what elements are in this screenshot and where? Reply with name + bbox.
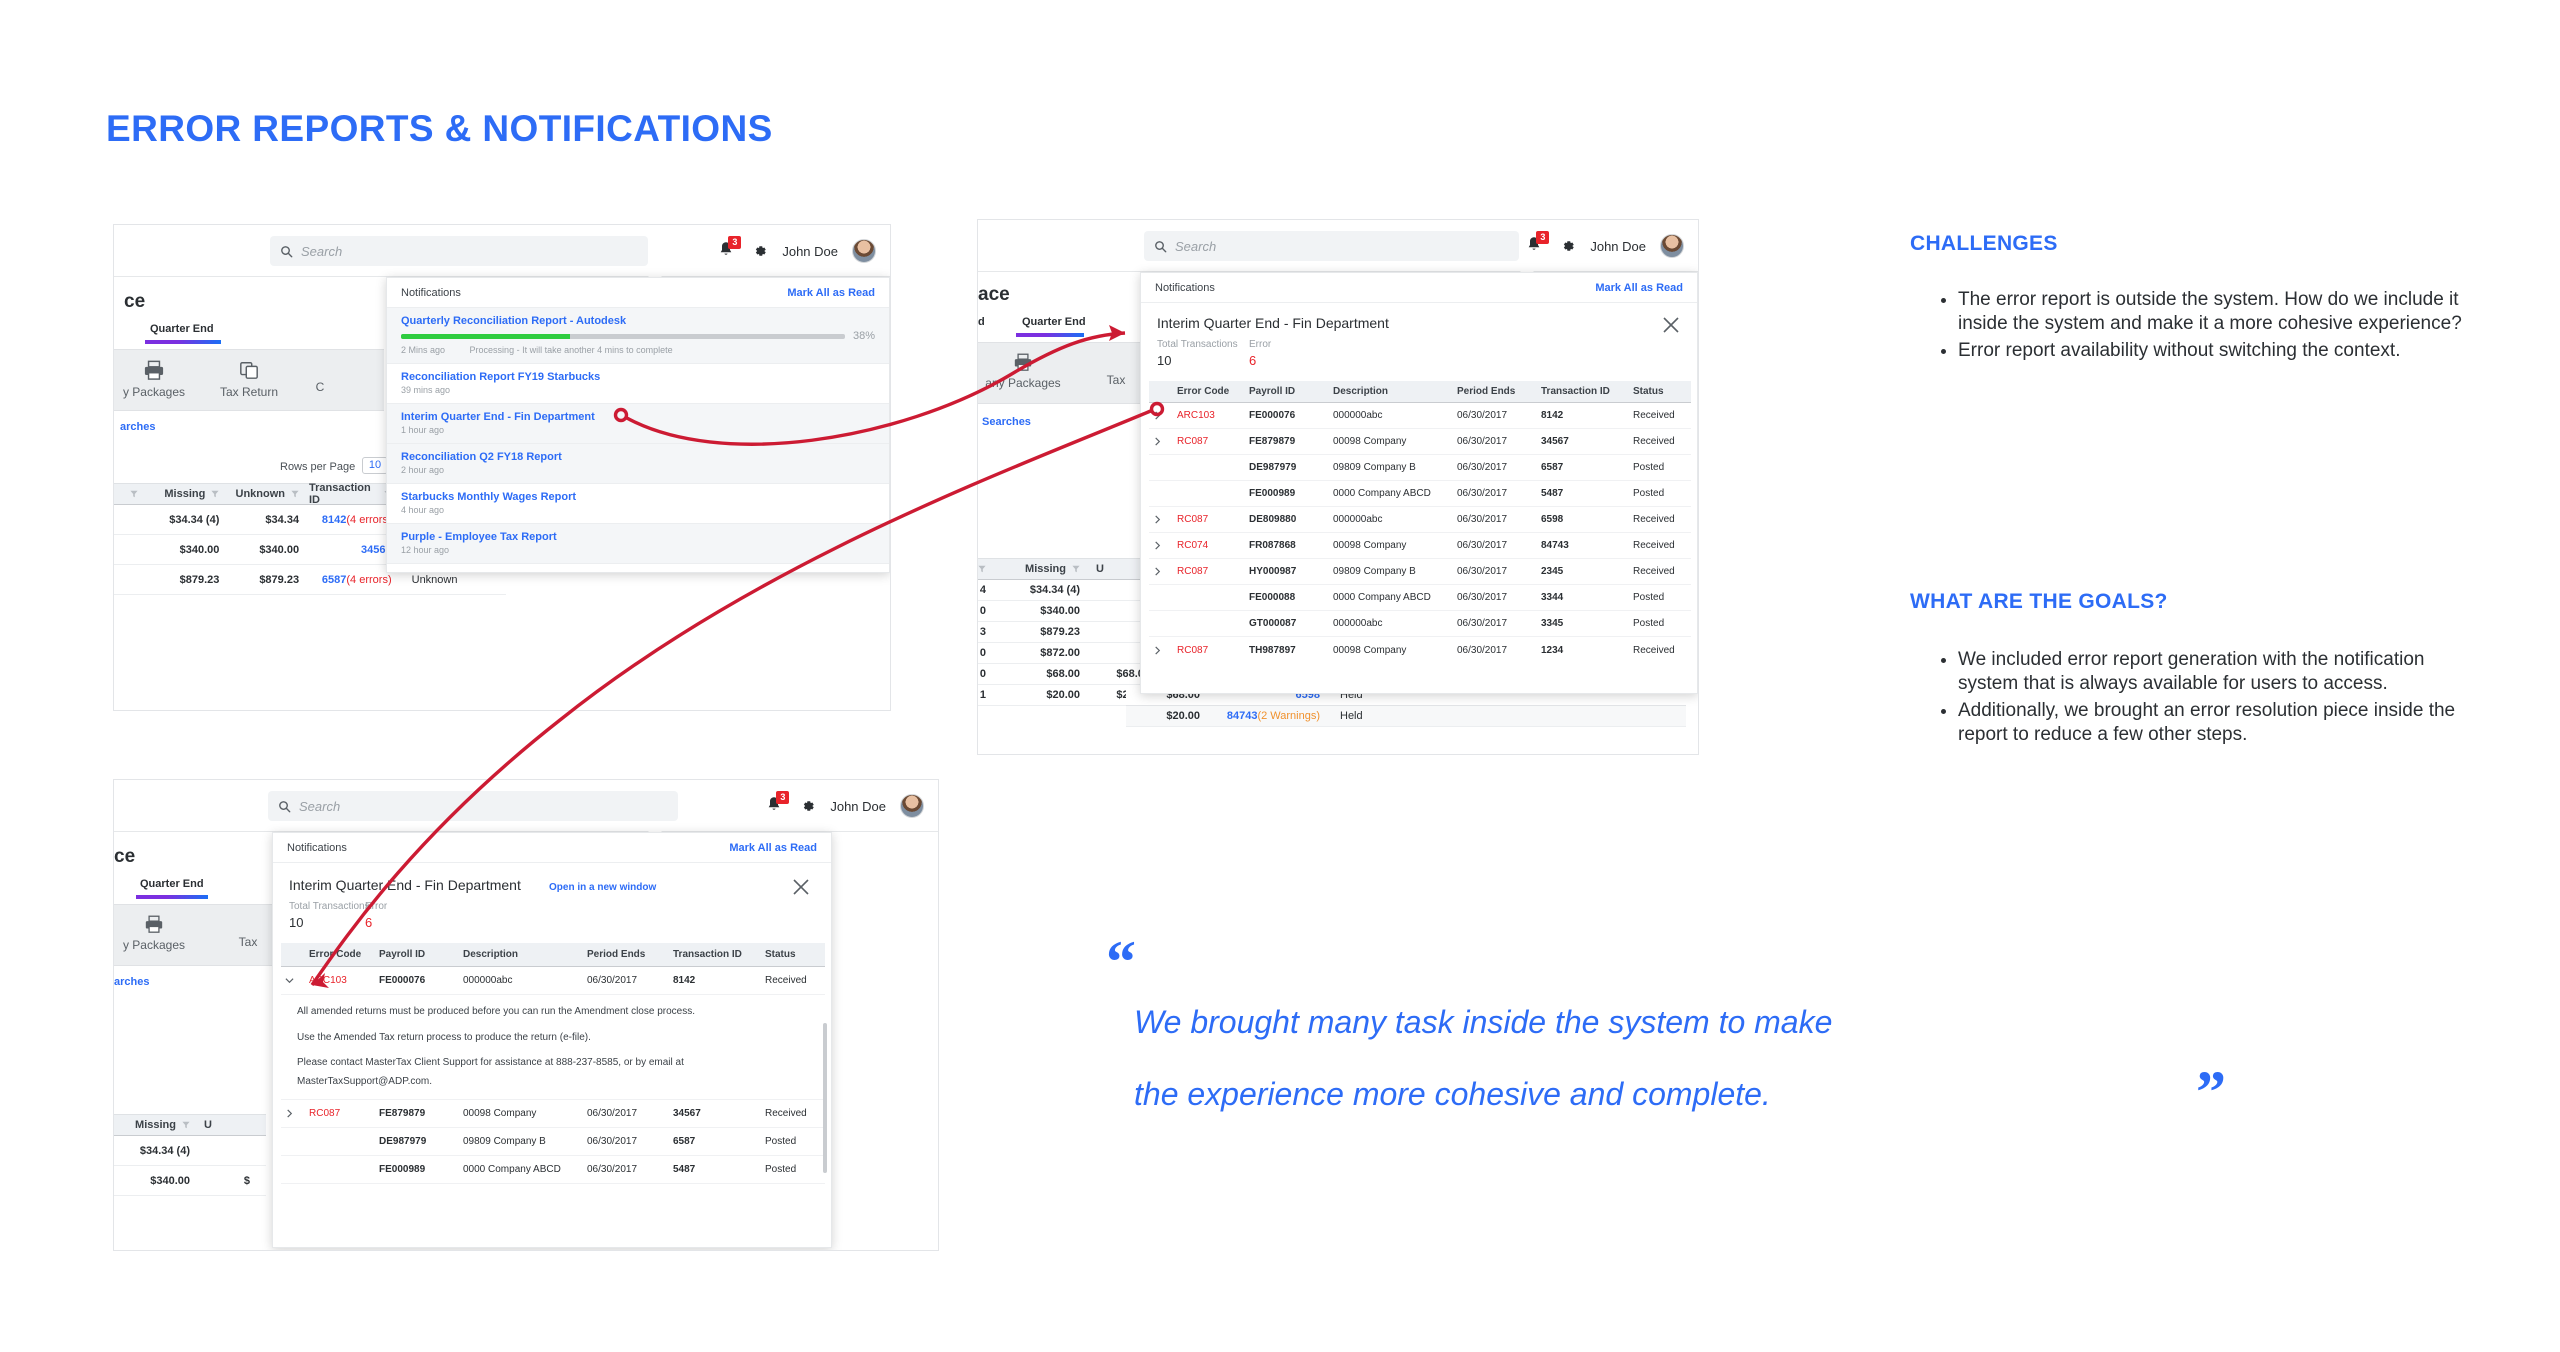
cell-payroll-id: FR087868 xyxy=(1245,540,1329,551)
expand-toggle[interactable] xyxy=(1149,411,1173,420)
table-row[interactable]: RC087 FE879879 00098 Company 06/30/2017 … xyxy=(281,1100,825,1128)
toolbar-label: y Packages xyxy=(114,938,204,952)
cell-error-code[interactable]: RC074 xyxy=(1173,540,1245,551)
tab-label-left: d xyxy=(978,316,985,328)
cell-period-ends: 06/30/2017 xyxy=(1453,645,1537,656)
list-item: Error report availability without switch… xyxy=(1958,339,2480,363)
notifications-title: Notifications xyxy=(287,842,347,854)
stat-label-total: Total Transactions xyxy=(1157,339,1238,350)
cell-status: Posted xyxy=(1629,462,1691,473)
filter-icon xyxy=(211,490,219,498)
progress-bar xyxy=(401,334,845,339)
top-bar: Search 3 John Doe xyxy=(978,220,1698,272)
th-period-ends[interactable]: Period Ends xyxy=(1453,381,1537,402)
th-error-code[interactable]: Error Code xyxy=(305,943,375,966)
cell-status: Received xyxy=(761,1108,821,1119)
slide-root: ERROR REPORTS & NOTIFICATIONS Search 3 xyxy=(0,0,2560,1352)
toolbar-label: Tax xyxy=(218,935,278,949)
th-period-ends[interactable]: Period Ends xyxy=(583,943,669,966)
cell-payroll-id: FE000989 xyxy=(375,1164,459,1175)
quote-open-mark: “ xyxy=(1106,932,1136,992)
cell-error-code[interactable]: RC087 xyxy=(1173,514,1245,525)
notification-time: 2 Mins ago xyxy=(401,345,445,355)
dropdown-caret xyxy=(648,270,662,277)
notification-badge: 3 xyxy=(776,791,789,804)
filter-icon xyxy=(182,1121,190,1129)
grid-cell-missing: $879.23 xyxy=(996,622,1090,642)
expand-toggle[interactable] xyxy=(1149,567,1173,576)
table-row[interactable]: 0 $340.00 $ xyxy=(978,601,1160,622)
grid-cell-missing: $34.34 (4) xyxy=(114,1136,200,1165)
search-placeholder: Search xyxy=(301,244,342,259)
cell-description: 000000abc xyxy=(1329,410,1453,421)
printer-icon xyxy=(143,360,165,380)
toolbar-item-tax-return[interactable]: Tax Return xyxy=(206,360,292,399)
top-bar: Search 3 John Doe xyxy=(114,780,938,832)
grid-cell-missing: $34.34 (4) xyxy=(148,505,230,534)
grid-header-label: U xyxy=(204,1119,212,1131)
txid-note: (4 errors) xyxy=(346,514,391,526)
cell-error-code[interactable]: ARC103 xyxy=(1173,410,1245,421)
cell-transaction-id: 3344 xyxy=(1537,592,1629,603)
grid-cell-status: Held xyxy=(1330,706,1440,726)
table-row[interactable]: DE987979 09809 Company B 06/30/2017 6587… xyxy=(1149,455,1691,481)
th-status[interactable]: Status xyxy=(761,943,821,966)
toolbar-label: C xyxy=(300,380,340,394)
grid-header-cell-missing[interactable]: Missing xyxy=(148,484,230,504)
notification-time: 39 mins ago xyxy=(401,385,875,395)
stat-value-error: 6 xyxy=(1249,353,1256,368)
toolbar-item-tax[interactable]: Tax xyxy=(1086,373,1146,387)
table-row[interactable]: 4 $34.34 (4) xyxy=(978,580,1160,601)
grid-header-cell[interactable] xyxy=(114,484,148,504)
gear-icon[interactable] xyxy=(752,243,768,259)
user-name: John Doe xyxy=(830,799,886,814)
progress-percent: 38% xyxy=(853,330,875,342)
cell-period-ends: 06/30/2017 xyxy=(1453,540,1537,551)
notification-meta: 2 Mins ago Processing - It will take ano… xyxy=(401,345,875,355)
top-bar: Search 3 John Doe xyxy=(114,225,890,277)
grid-cell-missing: $34.34 (4) xyxy=(996,580,1090,600)
toolbar-item-third[interactable]: C xyxy=(300,380,340,394)
saved-searches-link[interactable]: arches xyxy=(114,976,149,988)
filter-icon xyxy=(291,490,299,498)
tab-active-indicator xyxy=(136,895,208,899)
user-name: John Doe xyxy=(782,244,838,259)
cell-payroll-id: HY000987 xyxy=(1245,566,1329,577)
notification-title[interactable]: Interim Quarter End - Fin Department xyxy=(401,411,875,423)
grid-cell-missing: $340.00 xyxy=(148,535,230,564)
grid-cell-unknown: $20.00 xyxy=(1126,706,1210,726)
grid-cell-unknown xyxy=(200,1136,260,1165)
txid-link[interactable]: 84743 xyxy=(1227,710,1258,722)
cell-status: Received xyxy=(1629,436,1691,447)
workspace-name: ce xyxy=(124,291,145,313)
background-data-grid: Missing U 4 $34.34 (4) 0 $340.00 $ 3 $87… xyxy=(978,558,1160,706)
goals-heading: WHAT ARE THE GOALS? xyxy=(1910,590,2168,614)
list-item: The error report is outside the system. … xyxy=(1958,288,2480,337)
th-error-code[interactable]: Error Code xyxy=(1173,381,1245,402)
txid-note: (2 Warnings) xyxy=(1257,710,1320,722)
notification-title[interactable]: Purple - Employee Tax Report xyxy=(401,531,875,543)
table-row[interactable]: GT000087 000000abc 06/30/2017 3345 Poste… xyxy=(1149,611,1691,637)
search-input[interactable]: Search xyxy=(268,791,678,821)
search-input[interactable]: Search xyxy=(270,236,648,266)
cell-error-code[interactable]: RC087 xyxy=(1173,566,1245,577)
cell-description: 0000 Company ABCD xyxy=(1329,592,1453,603)
cell-transaction-id: 6587 xyxy=(1537,462,1629,473)
grid-cell-unknown: $340.00 xyxy=(229,535,309,564)
cell-payroll-id: FE000989 xyxy=(1245,488,1329,499)
list-item: Additionally, we brought an error resolu… xyxy=(1958,699,2458,748)
notification-item[interactable]: Purple - Employee Tax Report 12 hour ago xyxy=(387,524,889,564)
cell-description: 000000abc xyxy=(1329,514,1453,525)
chevron-right-icon xyxy=(1153,515,1162,524)
search-placeholder: Search xyxy=(1175,239,1216,254)
notification-title[interactable]: Starbucks Monthly Wages Report xyxy=(401,491,875,503)
avatar[interactable] xyxy=(1660,234,1684,258)
cell-payroll-id: GT000087 xyxy=(1245,618,1329,629)
grid-cell: 4 xyxy=(978,580,996,600)
notification-item[interactable]: Reconciliation Q2 FY18 Report 2 hour ago xyxy=(387,444,889,484)
cell-description: 000000abc xyxy=(1329,618,1453,629)
cell-description: 00098 Company xyxy=(1329,436,1453,447)
grid-cell xyxy=(114,565,148,594)
grid-cell-unknown: $34.34 xyxy=(229,505,309,534)
cell-period-ends: 06/30/2017 xyxy=(583,1136,669,1147)
notification-item[interactable]: Interim Quarter End - Fin Department 1 h… xyxy=(387,404,889,444)
cell-period-ends: 06/30/2017 xyxy=(583,1108,669,1119)
table-row[interactable]: $340.00 $ xyxy=(114,1166,266,1196)
stat-label-error: Error xyxy=(1249,339,1271,350)
cell-status: Posted xyxy=(1629,488,1691,499)
expand-toggle[interactable] xyxy=(1149,646,1173,655)
filter-icon xyxy=(1072,565,1080,573)
search-icon xyxy=(278,800,291,813)
th-status[interactable]: Status xyxy=(1629,381,1691,402)
notification-title[interactable]: Reconciliation Q2 FY18 Report xyxy=(401,451,875,463)
tab-active-indicator xyxy=(1016,333,1084,337)
cell-transaction-id: 34567 xyxy=(1537,436,1629,447)
stat-value-total: 10 xyxy=(1157,353,1171,368)
cell-transaction-id: 6587 xyxy=(669,1136,761,1147)
cell-transaction-id: 8142 xyxy=(669,975,761,986)
table-row[interactable]: RC087 TH987897 00098 Company 06/30/2017 … xyxy=(1149,637,1691,663)
table-row[interactable]: RC074 FR087868 00098 Company 06/30/2017 … xyxy=(1149,533,1691,559)
printer-icon xyxy=(144,915,164,933)
report-table-header: Error Code Payroll ID Description Period… xyxy=(281,943,825,967)
top-bar-right: 3 John Doe xyxy=(1526,220,1684,272)
th-transaction-id[interactable]: Transaction ID xyxy=(1537,381,1629,402)
cell-status: Posted xyxy=(1629,592,1691,603)
collapse-toggle[interactable] xyxy=(281,976,305,985)
saved-searches-link[interactable]: arches xyxy=(120,421,155,433)
rows-per-page-value[interactable]: 10 xyxy=(362,457,388,474)
table-row-expanded[interactable]: ARC103 FE000076 000000abc 06/30/2017 814… xyxy=(281,967,825,995)
grid-header-label: Unknown xyxy=(236,488,286,500)
cell-transaction-id: 3345 xyxy=(1537,618,1629,629)
report-panel-header: Notifications Mark All as Read xyxy=(1141,273,1697,303)
toolbar-label: y Packages xyxy=(114,385,198,399)
mark-all-as-read-link[interactable]: Mark All as Read xyxy=(1595,282,1683,294)
report-table: Error Code Payroll ID Description Period… xyxy=(1149,381,1691,663)
chevron-right-icon xyxy=(1153,411,1162,420)
cell-transaction-id: 1234 xyxy=(1537,645,1629,656)
cell-description: 0000 Company ABCD xyxy=(1329,488,1453,499)
cell-payroll-id: FE000076 xyxy=(1245,410,1329,421)
cell-status: Posted xyxy=(1629,618,1691,629)
th-payroll-id[interactable]: Payroll ID xyxy=(375,943,459,966)
th-transaction-id[interactable]: Transaction ID xyxy=(669,943,761,966)
panel-scrollbar[interactable] xyxy=(823,1023,827,1173)
stat-label-total: Total Transactions xyxy=(289,901,370,912)
toolbar-label: Tax xyxy=(1086,373,1146,387)
chevron-right-icon xyxy=(1153,567,1162,576)
tab-quarter-end[interactable]: Quarter End xyxy=(140,878,204,890)
notifications-dropdown-header: Notifications Mark All as Read xyxy=(387,278,889,308)
close-icon xyxy=(1661,315,1681,335)
search-input[interactable]: Search xyxy=(1144,231,1519,261)
page-title: ERROR REPORTS & NOTIFICATIONS xyxy=(106,108,773,150)
cell-status: Received xyxy=(761,975,821,986)
copy-icon xyxy=(238,360,260,380)
toolbar-strip: any Packages Tax xyxy=(978,342,1156,404)
cell-period-ends: 06/30/2017 xyxy=(583,1164,669,1175)
cell-transaction-id: 84743 xyxy=(1537,540,1629,551)
cell-payroll-id: FE879879 xyxy=(1245,436,1329,447)
toolbar-item-packages[interactable]: y Packages xyxy=(114,360,198,399)
table-row[interactable]: 0 $68.00 $68.00 xyxy=(978,664,1160,685)
notifications-title: Notifications xyxy=(401,287,461,299)
background-data-grid: Missing U $34.34 (4) $340.00 $ xyxy=(114,1114,266,1196)
cell-transaction-id: 34567 xyxy=(669,1108,761,1119)
cell-description: 00098 Company xyxy=(1329,645,1453,656)
notification-title[interactable]: Quarterly Reconciliation Report - Autode… xyxy=(401,315,875,327)
txid-link[interactable]: 6587 xyxy=(322,574,346,586)
cell-description: 09809 Company B xyxy=(459,1136,583,1147)
grid-header-label: Missing xyxy=(164,488,205,500)
avatar[interactable] xyxy=(852,239,876,263)
search-icon xyxy=(280,245,293,258)
cell-status: Received xyxy=(1629,410,1691,421)
chevron-right-icon xyxy=(1153,541,1162,550)
cell-description: 00098 Company xyxy=(459,1108,583,1119)
table-row[interactable]: FE000088 0000 Company ABCD 06/30/2017 33… xyxy=(1149,585,1691,611)
cell-description: 000000abc xyxy=(459,975,583,986)
tab-active-indicator xyxy=(145,340,221,344)
cell-status: Posted xyxy=(761,1164,821,1175)
quote-line-1: We brought many task inside the system t… xyxy=(1134,1000,1832,1044)
avatar[interactable] xyxy=(900,794,924,818)
notification-item[interactable]: Reconciliation Report FY19 Starbucks 39 … xyxy=(387,364,889,404)
table-row[interactable]: RC087 FE879879 00098 Company 06/30/2017 … xyxy=(1149,429,1691,455)
cell-payroll-id: FE000076 xyxy=(375,975,459,986)
gear-icon[interactable] xyxy=(1560,238,1576,254)
grid-cell: 3 xyxy=(978,622,996,642)
grid-header-cell-missing[interactable]: Missing xyxy=(114,1115,200,1135)
grid-header-row: Missing U xyxy=(978,558,1160,580)
cell-period-ends: 06/30/2017 xyxy=(1453,488,1537,499)
cell-payroll-id: FE879879 xyxy=(375,1108,459,1119)
stat-label-error: Error xyxy=(365,901,387,912)
grid-header-label: Missing xyxy=(135,1119,176,1131)
grid-cell-missing: $340.00 xyxy=(996,601,1090,621)
table-row[interactable]: RC087 HY000987 09809 Company B 06/30/201… xyxy=(1149,559,1691,585)
chevron-right-icon xyxy=(285,1109,294,1118)
cell-payroll-id: DE809880 xyxy=(1245,514,1329,525)
chevron-right-icon xyxy=(1153,437,1162,446)
grid-cell: 0 xyxy=(978,601,996,621)
cell-payroll-id: TH987897 xyxy=(1245,645,1329,656)
cell-status: Received xyxy=(1629,645,1691,656)
grid-header-cell[interactable] xyxy=(978,559,996,579)
app-window-report-collapsed: Search 3 John Doe ace d xyxy=(978,220,1698,754)
toolbar-item-tax[interactable]: Tax xyxy=(218,935,278,949)
notifications-button[interactable]: 3 xyxy=(1526,236,1546,256)
notifications-button[interactable]: 3 xyxy=(718,241,738,261)
cell-period-ends: 06/30/2017 xyxy=(583,975,669,986)
close-button[interactable] xyxy=(791,877,813,899)
cell-error-code[interactable]: RC087 xyxy=(1173,645,1245,656)
cell-description: 09809 Company B xyxy=(1329,566,1453,577)
gear-icon[interactable] xyxy=(800,798,816,814)
tab-quarter-end[interactable]: Quarter End xyxy=(150,323,214,335)
quote-close-mark: ” xyxy=(2196,1062,2226,1122)
saved-searches-link[interactable]: Searches xyxy=(982,416,1031,428)
notification-badge: 3 xyxy=(1536,231,1549,244)
table-row[interactable]: $34.34 (4) xyxy=(114,1136,266,1166)
table-row[interactable]: DE987979 09809 Company B 06/30/2017 6587… xyxy=(281,1128,825,1156)
toolbar-item-packages[interactable]: any Packages xyxy=(978,353,1076,390)
th-description[interactable]: Description xyxy=(459,943,583,966)
notification-item[interactable]: Quarterly Reconciliation Report - Autode… xyxy=(387,308,889,364)
table-row[interactable]: $20.00 84743 (2 Warnings) Held xyxy=(1126,706,1686,727)
grid-cell xyxy=(114,535,148,564)
challenges-list: The error report is outside the system. … xyxy=(1934,288,2480,365)
close-button[interactable] xyxy=(1661,315,1683,337)
table-row[interactable]: FE000989 0000 Company ABCD 06/30/2017 54… xyxy=(281,1156,825,1184)
table-row[interactable]: ARC103 FE000076 000000abc 06/30/2017 814… xyxy=(1149,403,1691,429)
error-detail-body: All amended returns must be produced bef… xyxy=(281,995,825,1100)
grid-header-cell-unknown[interactable]: U xyxy=(200,1115,260,1135)
cell-period-ends: 06/30/2017 xyxy=(1453,618,1537,629)
notification-item[interactable]: Starbucks Monthly Wages Report 4 hour ag… xyxy=(387,484,889,524)
table-row[interactable]: 3 $879.23 $ xyxy=(978,622,1160,643)
expand-toggle[interactable] xyxy=(1149,437,1173,446)
cell-payroll-id: FE000088 xyxy=(1245,592,1329,603)
mark-all-as-read-link[interactable]: Mark All as Read xyxy=(729,842,817,854)
cell-status: Received xyxy=(1629,540,1691,551)
top-bar-right: 3 John Doe xyxy=(766,780,924,832)
search-icon xyxy=(1154,240,1167,253)
stat-value-total: 10 xyxy=(289,915,303,930)
table-row[interactable]: RC087 DE809880 000000abc 06/30/2017 6598… xyxy=(1149,507,1691,533)
grid-header-cell-missing[interactable]: Missing xyxy=(996,559,1090,579)
filter-icon xyxy=(978,565,986,573)
cell-transaction-id: 2345 xyxy=(1537,566,1629,577)
notifications-title: Notifications xyxy=(1155,282,1215,294)
list-item: We included error report generation with… xyxy=(1958,648,2458,697)
cell-description: 0000 Company ABCD xyxy=(459,1164,583,1175)
error-detail-line: All amended returns must be produced bef… xyxy=(297,1003,811,1022)
grid-header-label: Missing xyxy=(1025,563,1066,575)
cell-error-code[interactable]: RC087 xyxy=(1173,436,1245,447)
grid-header-row: Missing U xyxy=(114,1114,266,1136)
grid-cell-missing: $20.00 xyxy=(996,685,1090,705)
report-table-header: Error Code Payroll ID Description Period… xyxy=(1149,381,1691,403)
user-name: John Doe xyxy=(1590,239,1646,254)
notification-time: 2 hour ago xyxy=(401,465,875,475)
table-row[interactable]: 0 $872.00 $ xyxy=(978,643,1160,664)
grid-header-label: Transaction ID xyxy=(309,482,378,506)
th-payroll-id[interactable]: Payroll ID xyxy=(1245,381,1329,402)
cell-transaction-id: 5487 xyxy=(669,1164,761,1175)
notification-time: 1 hour ago xyxy=(401,425,875,435)
grid-cell-unknown: $879.23 xyxy=(229,565,309,594)
cell-transaction-id: 8142 xyxy=(1537,410,1629,421)
error-detail-line: Use the Amended Tax return process to pr… xyxy=(297,1029,811,1048)
printer-icon xyxy=(1013,353,1033,371)
toolbar-label: any Packages xyxy=(978,376,1076,390)
toolbar-item-packages[interactable]: y Packages xyxy=(114,915,204,952)
grid-cell-unknown: $ xyxy=(200,1166,260,1195)
notification-progress: 38% xyxy=(401,330,875,342)
app-window-notifications: Search 3 John Doe ce xyxy=(114,225,890,710)
notifications-button[interactable]: 3 xyxy=(766,796,786,816)
notification-time: 4 hour ago xyxy=(401,505,875,515)
quote-line-2: the experience more cohesive and complet… xyxy=(1134,1072,1771,1116)
toolbar-strip: y Packages Tax Return C xyxy=(114,349,384,411)
cell-period-ends: 06/30/2017 xyxy=(1453,566,1537,577)
cell-description: 00098 Company xyxy=(1329,540,1453,551)
notifications-dropdown: Notifications Mark All as Read Quarterly… xyxy=(386,277,890,573)
th-spacer xyxy=(281,943,305,966)
expand-toggle[interactable] xyxy=(1149,515,1173,524)
grid-cell-missing: $872.00 xyxy=(996,643,1090,663)
notification-title[interactable]: Reconciliation Report FY19 Starbucks xyxy=(401,371,875,383)
grid-header-cell-unknown[interactable]: Unknown xyxy=(229,484,309,504)
cell-period-ends: 06/30/2017 xyxy=(1453,410,1537,421)
expand-toggle[interactable] xyxy=(1149,541,1173,550)
th-description[interactable]: Description xyxy=(1329,381,1453,402)
dropdown-caret xyxy=(648,825,662,832)
cell-error-code[interactable]: ARC103 xyxy=(305,975,375,986)
cell-payroll-id: DE987979 xyxy=(1245,462,1329,473)
cell-transaction-id: 5487 xyxy=(1537,488,1629,499)
cell-payroll-id: DE987979 xyxy=(375,1136,459,1147)
error-detail-line: Please contact MasterTax Client Support … xyxy=(297,1054,811,1091)
tab-row: d Quarter End xyxy=(978,316,1148,342)
grid-cell-txid[interactable]: 84743 (2 Warnings) xyxy=(1210,706,1330,726)
expand-toggle[interactable] xyxy=(281,1109,305,1118)
goals-list: We included error report generation with… xyxy=(1934,648,2458,749)
table-row[interactable]: FE000989 0000 Company ABCD 06/30/2017 54… xyxy=(1149,481,1691,507)
toolbar-label: Tax Return xyxy=(206,385,292,399)
mark-all-as-read-link[interactable]: Mark All as Read xyxy=(787,287,875,299)
notification-badge: 3 xyxy=(728,236,741,249)
cell-error-code[interactable]: RC087 xyxy=(305,1108,375,1119)
close-icon xyxy=(791,877,811,897)
report-panel-expanded: Notifications Mark All as Read Interim Q… xyxy=(272,832,832,1248)
grid-cell: 1 xyxy=(978,685,996,705)
cell-status: Received xyxy=(1629,566,1691,577)
challenges-heading: CHALLENGES xyxy=(1910,232,2058,256)
open-in-new-window-link[interactable]: Open in a new window xyxy=(549,882,656,893)
txid-link[interactable]: 8142 xyxy=(322,514,346,526)
tab-quarter-end[interactable]: Quarter End xyxy=(1022,316,1086,328)
cell-description: 09809 Company B xyxy=(1329,462,1453,473)
cell-status: Posted xyxy=(761,1136,821,1147)
